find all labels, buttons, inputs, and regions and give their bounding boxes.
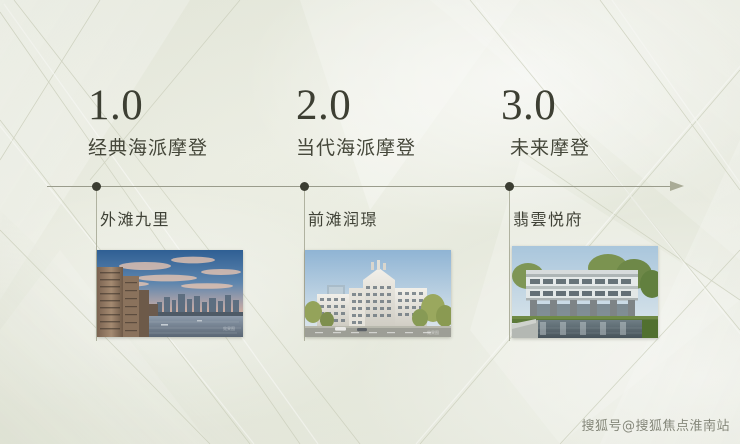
- project-photo-3[interactable]: [512, 246, 658, 338]
- timeline-dot-icon: [300, 182, 309, 191]
- project-photo-2[interactable]: 效果图: [305, 250, 451, 337]
- version-label-3: 3.0: [501, 84, 556, 127]
- timeline-arrow-icon: [670, 181, 684, 191]
- svg-text:效果图: 效果图: [223, 325, 235, 331]
- timeline-connector-line: [509, 191, 510, 341]
- slide-canvas: 1.0 经典海派摩登 外滩九里: [0, 0, 740, 444]
- timeline-dot-icon: [92, 182, 101, 191]
- project-name-1: 外滩九里: [100, 210, 170, 229]
- project-photo-1[interactable]: 效果图: [97, 250, 243, 337]
- version-label-1: 1.0: [88, 84, 143, 127]
- version-subtitle-2: 当代海派摩登: [296, 137, 416, 160]
- timeline-dot-icon: [505, 182, 514, 191]
- project-name-2: 前滩润璟: [308, 210, 378, 229]
- version-subtitle-3: 未来摩登: [510, 137, 590, 160]
- timeline-axis-line: [47, 186, 672, 187]
- version-label-2: 2.0: [296, 84, 351, 127]
- watermark-prefix-text: 搜狐号@搜狐焦点淮南站: [581, 415, 730, 434]
- project-name-3: 翡雲悦府: [513, 210, 583, 229]
- version-subtitle-1: 经典海派摩登: [88, 137, 208, 160]
- watermark: 搜狐号@搜狐焦点淮南站: [581, 415, 730, 434]
- svg-text:效果图: 效果图: [427, 329, 439, 335]
